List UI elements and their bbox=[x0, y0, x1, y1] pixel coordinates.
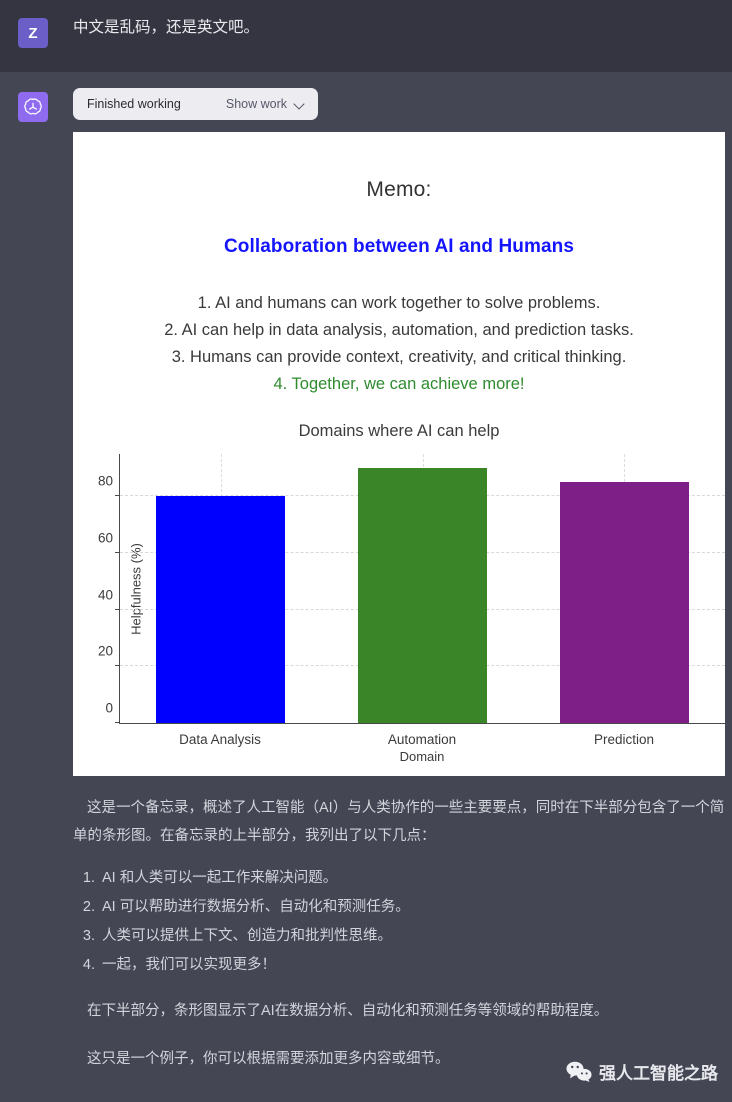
chart-y-tick-label: 60 bbox=[98, 531, 113, 546]
assistant-message-body: Finished working Show work Memo: Collabo… bbox=[48, 88, 732, 1087]
chart-bar bbox=[560, 482, 689, 723]
memo-point: 2. AI can help in data analysis, automat… bbox=[73, 317, 725, 344]
chart-y-tick-label: 80 bbox=[98, 474, 113, 489]
show-work-pill[interactable]: Finished working Show work bbox=[73, 88, 318, 120]
memo-image-card[interactable]: Memo: Collaboration between AI and Human… bbox=[73, 132, 725, 776]
chart-x-axis-label: Domain bbox=[119, 749, 725, 764]
wechat-icon bbox=[566, 1061, 592, 1082]
chart-y-tick-label: 40 bbox=[98, 587, 113, 602]
memo-subtitle: Collaboration between AI and Humans bbox=[73, 202, 725, 258]
chart-y-axis-label: Helpfulness (%) bbox=[128, 543, 143, 635]
chat-page: Z 中文是乱码，还是英文吧。 Finished working Show wor… bbox=[0, 0, 732, 1102]
chart-plot-area: Helpfulness (%) 020406080 Data AnalysisA… bbox=[119, 454, 725, 724]
reply-ordered-list: AI 和人类可以一起工作来解决问题。 AI 可以帮助进行数据分析、自动化和预测任… bbox=[73, 864, 725, 979]
chart-x-tick-label: Automation bbox=[388, 732, 456, 747]
reply-intro-paragraph: 这是一个备忘录，概述了人工智能（AI）与人类协作的一些主要要点，同时在下半部分包… bbox=[73, 794, 725, 850]
chart-bar bbox=[358, 468, 487, 723]
watermark: 强人工智能之路 bbox=[566, 1059, 718, 1084]
memo-point: 3. Humans can provide context, creativit… bbox=[73, 344, 725, 371]
chart-y-tick-label: 0 bbox=[105, 701, 113, 716]
show-work-label: Show work bbox=[226, 97, 287, 111]
bar-chart: Domains where AI can help Helpfulness (%… bbox=[73, 422, 725, 767]
list-item: 人类可以提供上下文、创造力和批判性思维。 bbox=[99, 922, 725, 950]
chevron-down-icon[interactable] bbox=[295, 99, 306, 110]
chart-title: Domains where AI can help bbox=[73, 422, 725, 445]
assistant-message-row: Finished working Show work Memo: Collabo… bbox=[0, 72, 732, 1102]
chart-bar bbox=[156, 496, 285, 723]
chart-x-tick-label: Prediction bbox=[594, 732, 654, 747]
watermark-text: 强人工智能之路 bbox=[599, 1059, 718, 1084]
user-message-body: 中文是乱码，还是英文吧。 bbox=[48, 14, 732, 41]
memo-title: Memo: bbox=[73, 132, 725, 202]
memo-point-highlight: 4. Together, we can achieve more! bbox=[73, 371, 725, 398]
list-item: AI 和人类可以一起工作来解决问题。 bbox=[99, 864, 725, 892]
memo-points-list: 1. AI and humans can work together to so… bbox=[73, 258, 725, 398]
list-item: AI 可以帮助进行数据分析、自动化和预测任务。 bbox=[99, 893, 725, 921]
chart-y-tick-mark bbox=[115, 722, 120, 723]
assistant-avatar bbox=[18, 92, 48, 122]
user-message-text: 中文是乱码，还是英文吧。 bbox=[73, 14, 724, 41]
user-avatar-initial: Z bbox=[28, 25, 37, 42]
memo-point: 1. AI and humans can work together to so… bbox=[73, 290, 725, 317]
assistant-reply-text: 这是一个备忘录，概述了人工智能（AI）与人类协作的一些主要要点，同时在下半部分包… bbox=[73, 776, 725, 1073]
chart-axes: Helpfulness (%) 020406080 bbox=[119, 454, 725, 724]
user-avatar: Z bbox=[18, 18, 48, 48]
openai-logo-icon bbox=[23, 97, 43, 117]
user-message-row: Z 中文是乱码，还是英文吧。 bbox=[0, 0, 732, 72]
reply-paragraph-2: 在下半部分，条形图显示了AI在数据分析、自动化和预测任务等领域的帮助程度。 bbox=[73, 997, 725, 1025]
chart-x-tick-label: Data Analysis bbox=[179, 732, 261, 747]
tool-status-label: Finished working bbox=[87, 97, 181, 111]
list-item: 一起，我们可以实现更多！ bbox=[99, 951, 725, 979]
chart-y-tick-label: 20 bbox=[98, 644, 113, 659]
show-work-control[interactable]: Show work bbox=[226, 97, 306, 111]
